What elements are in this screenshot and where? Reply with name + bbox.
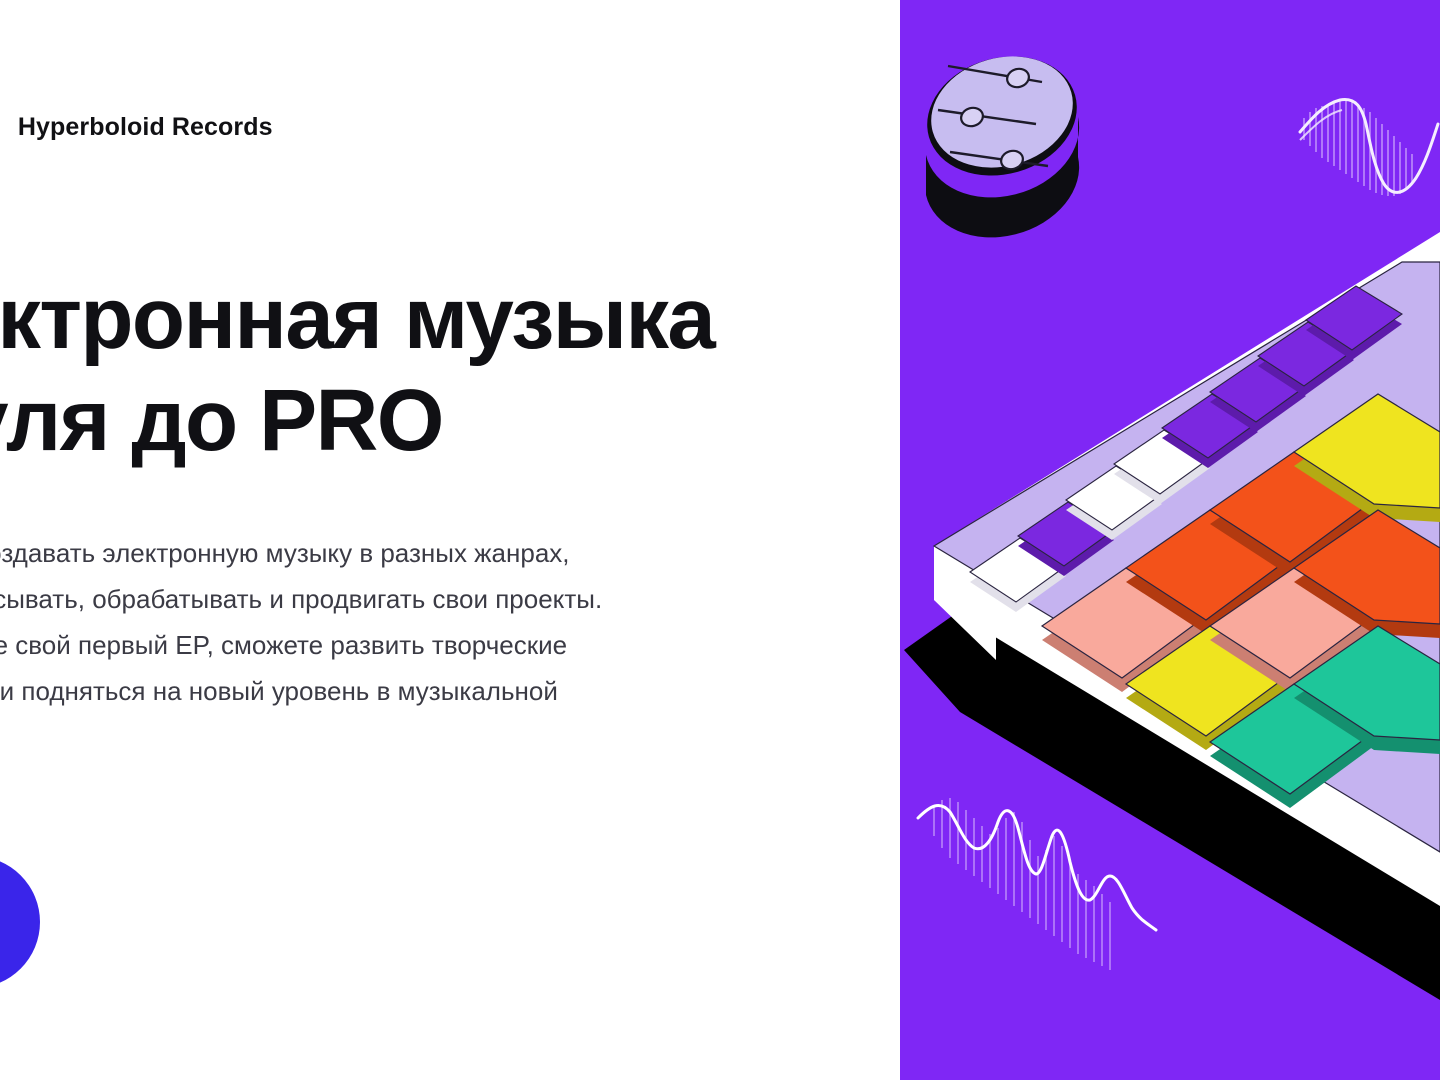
- hero-illustration-panel: [900, 0, 1440, 1080]
- partner-name: Hyperboloid Records: [18, 113, 273, 142]
- waveform-top-right-icon: [1300, 100, 1438, 196]
- waveform-bottom-left-icon: [918, 798, 1156, 970]
- midi-pad-illustration: [900, 0, 1440, 1080]
- choose-course-button[interactable]: Выбрать курс: [0, 856, 40, 988]
- hero-text-panel: ПАРТНЁР: Hyperboloid Records Электронная…: [0, 0, 900, 1080]
- hero-description: Научитесь создавать электронную музыку в…: [0, 530, 602, 760]
- page-title: Электронная музыка с нуля до PRO: [0, 268, 714, 472]
- partner-row: ПАРТНЁР: Hyperboloid Records: [0, 113, 273, 142]
- rotary-mixer-puck-icon: [913, 39, 1091, 237]
